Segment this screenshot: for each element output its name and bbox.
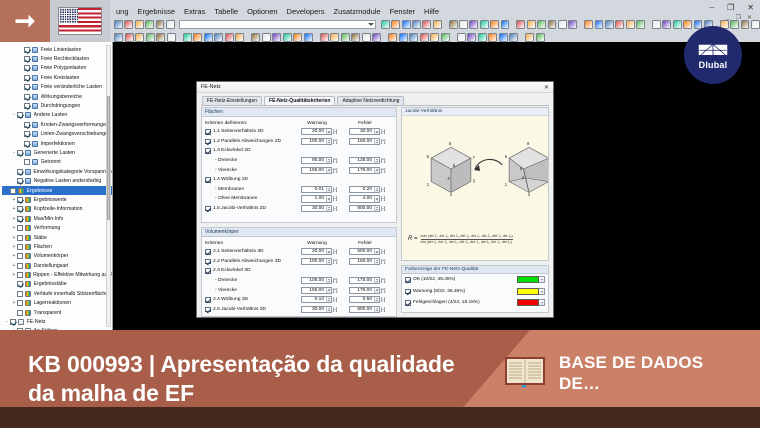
criterion-checkbox[interactable] [205, 206, 211, 212]
menu-item-8[interactable]: Hilfe [424, 7, 439, 18]
solid-6-warning-spinner[interactable]: 30.00 [301, 306, 332, 313]
criterion-label: 2.1 Seitenverhältnis 3D [213, 249, 264, 254]
tree-item-checkbox[interactable] [17, 169, 23, 175]
tree-item-label: Durchdringungen [41, 103, 81, 109]
toolbar-icon-28[interactable] [584, 20, 593, 29]
surface-7-warning-spinner[interactable]: 1.00 [301, 195, 332, 202]
tree-item-checkbox[interactable] [24, 94, 30, 100]
result-icon [25, 263, 31, 269]
toolbar-icon-37[interactable] [673, 20, 682, 29]
toolbar-icon-23[interactable] [537, 20, 546, 29]
toolbar-icon-43[interactable] [730, 20, 739, 29]
toolbar-icon-29[interactable] [399, 33, 408, 42]
toolbar-icon-33[interactable] [441, 33, 450, 42]
toolbar-icon-21[interactable] [516, 20, 525, 29]
toolbar-icon-19[interactable] [501, 20, 510, 29]
tree-item[interactable]: Knoten-Zwangsverformungen [2, 120, 112, 129]
surface-0-warning-value[interactable]: 20.00 [302, 129, 326, 134]
menu-item-5[interactable]: Developers [287, 7, 325, 18]
tree-item-checkbox[interactable] [17, 244, 23, 250]
toolbar-icon-1[interactable] [124, 20, 133, 29]
toolbar-icon-43[interactable] [536, 33, 545, 42]
tree-item-checkbox[interactable] [24, 75, 30, 81]
menu-item-6[interactable]: Zusatzmodule [333, 7, 380, 18]
criterion-checkbox[interactable] [205, 139, 211, 145]
toolbar-icon-18[interactable] [490, 20, 499, 29]
toolbar-icon-17[interactable] [480, 20, 489, 29]
toolbar-icon-44[interactable] [741, 20, 750, 29]
tree-item-checkbox[interactable] [24, 131, 30, 137]
legend-color-dropdown-icon[interactable] [539, 299, 545, 306]
solid-1-warning-spinner[interactable]: 100.00 [301, 258, 332, 265]
surface-1-error-stepper[interactable] [374, 139, 379, 144]
tree-item-checkbox[interactable] [17, 178, 23, 184]
toolbar-row-1[interactable] [108, 18, 760, 31]
solid-3-error-spinner[interactable]: 175.00 [349, 277, 380, 284]
surface-7-error-value[interactable]: 4.00 [350, 196, 374, 201]
toolbar-icon-36[interactable] [467, 33, 476, 42]
toolbar-icon-33[interactable] [636, 20, 645, 29]
surface-1-error-spinner[interactable]: 160.00 [349, 138, 380, 145]
criterion-row[interactable]: 1.3 Eckwinkel 2D [205, 146, 393, 156]
svg-text:2: 2 [528, 192, 531, 196]
surface-4-error-spinner[interactable]: 175.00 [349, 167, 380, 174]
tree-item-checkbox[interactable] [24, 159, 30, 165]
toolbar-icon-5[interactable] [167, 33, 176, 42]
tree-item[interactable]: -Ergebnisse [2, 186, 112, 195]
toolbar-icon-22[interactable] [527, 20, 536, 29]
minimize-icon[interactable]: – [710, 3, 714, 12]
toolbar-icon-4[interactable] [156, 20, 165, 29]
toolbar-icon-29[interactable] [595, 20, 604, 29]
solid-4-warning-value[interactable]: 155.00 [302, 288, 326, 293]
surface-7-warning-stepper[interactable] [326, 196, 331, 201]
project-navigator-tree[interactable]: Freie LinienlastenFreie RechtecklastenFr… [0, 42, 113, 330]
toolbar-icon-30[interactable] [605, 20, 614, 29]
solid-5-error-stepper[interactable] [374, 297, 379, 302]
solid-5-warning-value[interactable]: 0.10 [302, 297, 326, 302]
solid-4-error-spinner[interactable]: 175.00 [349, 287, 380, 294]
solid-0-warning-spinner[interactable]: 20.00 [301, 248, 332, 255]
toolbar-icon-26[interactable] [568, 20, 577, 29]
tree-item[interactable]: Wirkungsbereiche [2, 92, 112, 101]
tree-item-checkbox[interactable] [17, 310, 23, 316]
legend-checkbox[interactable] [405, 277, 411, 283]
toolbar-icon-8[interactable] [391, 20, 400, 29]
toolbar-icon-19[interactable] [304, 33, 313, 42]
legend-checkbox[interactable] [405, 289, 411, 295]
criterion-row[interactable]: 2.2 Parallele Abweichungen 3D100.00[°]16… [205, 257, 393, 267]
surface-4-warning-unit: [°] [333, 168, 341, 173]
surface-6-error-spinner[interactable]: 0.20 [349, 186, 380, 193]
legend-color-dropdown-icon[interactable] [539, 276, 545, 283]
us-flag-icon [58, 7, 102, 35]
legend-checkbox[interactable] [405, 300, 411, 306]
toolbar-icon-2[interactable] [135, 33, 144, 42]
solid-3-error-stepper[interactable] [374, 278, 379, 283]
toolbar-icon-39[interactable] [499, 33, 508, 42]
toolbar-icon-2[interactable] [135, 20, 144, 29]
solid-3-warning-spinner[interactable]: 105.00 [301, 277, 332, 284]
tree-item-checkbox[interactable] [17, 150, 23, 156]
tree-item-checkbox[interactable] [24, 56, 30, 62]
tree-item[interactable]: Negative Lasten andersfarbig [2, 176, 112, 185]
criterion-row[interactable]: - Ohne Membranen1.00[-]4.00[-] [205, 194, 393, 204]
surface-1-warning-cell: 100.00[°] [293, 138, 341, 145]
surface-4-warning-value[interactable]: 155.00 [302, 168, 326, 173]
tree-item[interactable]: Freie Polygonlasten [2, 64, 112, 73]
tree-item[interactable]: Freie Kreislasten [2, 73, 112, 82]
toolbar-icon-25[interactable] [558, 20, 567, 29]
surfaces-group-body: Kriterien definieren: Warnung Fehler 1.1… [202, 117, 396, 215]
toolbar-icon-14[interactable] [251, 33, 260, 42]
tab-fe-mesh-quality-criteria[interactable]: FE-Netz-Qualitätskriterien [264, 96, 335, 105]
solid-5-error-value[interactable]: 0.50 [350, 297, 374, 302]
window-controls[interactable]: – ❐ ✕ [710, 3, 754, 12]
surface-8-error-stepper[interactable] [374, 206, 379, 211]
criterion-row[interactable]: 1.1 Seitenverhältnis 2D20.00[-]30.00[-] [205, 127, 393, 137]
surface-0-error-stepper[interactable] [374, 129, 379, 134]
toolbar-icon-35[interactable] [457, 33, 466, 42]
surface-6-error-stepper[interactable] [374, 187, 379, 192]
toolbar-icon-17[interactable] [283, 33, 292, 42]
tree-item-checkbox[interactable] [17, 300, 23, 306]
legend-color-swatch[interactable] [517, 276, 539, 283]
solid-3-warning-value[interactable]: 105.00 [302, 278, 326, 283]
tree-item-checkbox[interactable] [17, 216, 23, 222]
tree-item[interactable]: +Rippen - Effektive Mitwirkung auf Flä [2, 270, 112, 279]
criterion-checkbox[interactable] [205, 148, 211, 154]
toolbar-icon-8[interactable] [193, 33, 202, 42]
toolbar-icon-1[interactable] [125, 33, 134, 42]
toolbar-address-combo[interactable] [179, 20, 376, 29]
legend-color-swatch[interactable] [517, 288, 539, 295]
tree-item-checkbox[interactable] [10, 319, 16, 325]
toolbar-icon-40[interactable] [509, 33, 518, 42]
toolbar-icon-12[interactable] [235, 33, 244, 42]
tree-item-checkbox[interactable] [17, 291, 23, 297]
toolbar-icon-16[interactable] [272, 33, 281, 42]
surface-1-warning-stepper[interactable] [326, 139, 331, 144]
close-icon[interactable]: ✕ [747, 3, 754, 12]
toolbar-icon-11[interactable] [422, 20, 431, 29]
tree-item-checkbox[interactable] [17, 281, 23, 287]
surface-4-error-stepper[interactable] [374, 168, 379, 173]
toolbar-icon-10[interactable] [214, 33, 223, 42]
load-icon [32, 65, 38, 71]
dialog-close-icon[interactable]: ✕ [544, 84, 549, 91]
surface-8-warning-value[interactable]: 30.00 [302, 206, 326, 211]
toolbar-icon-11[interactable] [225, 33, 234, 42]
tree-item-checkbox[interactable] [17, 235, 23, 241]
criterion-checkbox[interactable] [205, 249, 211, 255]
toolbar-icon-24[interactable] [548, 20, 557, 29]
criterion-row[interactable]: 2.3 Eckwinkel 3D [205, 266, 393, 276]
tree-item[interactable]: Freie Rechtecklasten [2, 54, 112, 63]
tab-fe-mesh-settings[interactable]: FE-Netz-Einstellungen [202, 96, 262, 105]
toolbar-icon-7[interactable] [381, 20, 390, 29]
criterion-row[interactable]: - Vierecke155.00[°]175.00[°] [205, 165, 393, 175]
surface-7-warning-value[interactable]: 1.00 [302, 196, 326, 201]
legend-row[interactable]: Fehlgeschlagen (4/22, 18.18%) [402, 297, 548, 309]
tree-item-checkbox[interactable] [24, 141, 30, 147]
surface-6-warning-value[interactable]: 0.01 [302, 187, 326, 192]
load-icon [32, 84, 38, 90]
criterion-row[interactable]: - Dreiecke105.00[°]175.00[°] [205, 276, 393, 286]
solid-5-error-cell: 0.50[-] [341, 296, 389, 303]
solids-col-warning: Warnung [293, 241, 341, 246]
tree-item[interactable]: Linien-Zwangsverschiebungen [2, 130, 112, 139]
solid-5-error-spinner[interactable]: 0.50 [349, 296, 380, 303]
toolbar-icon-32[interactable] [430, 33, 439, 42]
surface-0-warning-stepper[interactable] [326, 129, 331, 134]
surface-4-error-value[interactable]: 175.00 [350, 168, 374, 173]
tree-item[interactable]: -FE-Netz [2, 317, 112, 326]
tree-item[interactable]: Transparent [2, 308, 112, 317]
tree-item-checkbox[interactable] [17, 225, 23, 231]
criterion-label-wrap: - Ohne Membranen [205, 196, 293, 201]
solid-0-warning-value[interactable]: 20.00 [302, 249, 326, 254]
criterion-checkbox[interactable] [205, 268, 211, 274]
solid-4-error-stepper[interactable] [374, 288, 379, 293]
tree-item[interactable]: +Max/Min-Info [2, 214, 112, 223]
surface-8-error-value[interactable]: 800.00 [350, 206, 374, 211]
toolbar-icon-30[interactable] [409, 33, 418, 42]
surface-4-warning-spinner[interactable]: 155.00 [301, 167, 332, 174]
tab-adaptive-mesh-refinement[interactable]: Adaptive Netzverdichtung [337, 96, 404, 105]
surface-8-warning-stepper[interactable] [326, 206, 331, 211]
menu-item-1[interactable]: Ergebnisse [138, 7, 176, 18]
solid-6-error-value[interactable]: 800.00 [350, 307, 374, 312]
toolbar-icon-22[interactable] [330, 33, 339, 42]
solid-4-error-value[interactable]: 175.00 [350, 288, 374, 293]
legend-color-dropdown-icon[interactable] [539, 288, 545, 295]
menu-item-7[interactable]: Fenster [390, 7, 415, 18]
toolbar-icon-38[interactable] [488, 33, 497, 42]
toolbar-icon-21[interactable] [320, 33, 329, 42]
tree-item[interactable]: Freie veränderliche Lasten [2, 83, 112, 92]
toolbar-icon-23[interactable] [341, 33, 350, 42]
surface-3-error-stepper[interactable] [374, 158, 379, 163]
criterion-row[interactable]: - Dreiecke95.00[°]135.00[°] [205, 156, 393, 166]
solid-1-warning-value[interactable]: 100.00 [302, 259, 326, 264]
toolbar-row-1-icons[interactable] [108, 18, 760, 31]
criterion-checkbox[interactable] [205, 129, 211, 135]
legend-color-swatch[interactable] [517, 299, 539, 306]
criterion-row[interactable]: 1.2 Parallele Abweichungen 2D100.00[°]16… [205, 137, 393, 147]
fe-mesh-dialog[interactable]: FE-Netz ✕ FE-Netz-Einstellungen FE-Netz-… [196, 81, 554, 318]
solid-0-error-spinner[interactable]: 500.00 [349, 248, 380, 255]
toolbar-icon-24[interactable] [351, 33, 360, 42]
menu-item-4[interactable]: Optionen [247, 7, 277, 18]
criterion-checkbox[interactable] [205, 177, 211, 183]
surface-7-error-stepper[interactable] [374, 196, 379, 201]
criterion-row[interactable]: 2.4 Wölbung 3D0.10[-]0.50[-] [205, 295, 393, 305]
surface-1-warning-spinner[interactable]: 100.00 [301, 138, 332, 145]
surface-8-error-spinner[interactable]: 800.00 [349, 205, 380, 212]
solid-6-error-stepper[interactable] [374, 307, 379, 312]
surfaces-col-criteria: Kriterien definieren: [205, 121, 293, 126]
solid-1-error-stepper[interactable] [374, 259, 379, 264]
solid-0-error-cell: 500.00[-] [341, 248, 389, 255]
menu-item-3[interactable]: Tabelle [214, 7, 238, 18]
toolbar-icon-37[interactable] [478, 33, 487, 42]
tree-item[interactable]: +Kopfzeile-Information [2, 205, 112, 214]
solid-0-error-value[interactable]: 500.00 [350, 249, 374, 254]
surface-3-error-value[interactable]: 135.00 [350, 158, 374, 163]
tree-item-checkbox[interactable] [24, 65, 30, 71]
surface-0-error-spinner[interactable]: 30.00 [349, 128, 380, 135]
criterion-row[interactable]: - Vierecke155.00[°]175.00[°] [205, 285, 393, 295]
solid-5-warning-spinner[interactable]: 0.10 [301, 296, 332, 303]
tree-item-checkbox[interactable] [24, 122, 30, 128]
surface-1-warning-value[interactable]: 100.00 [302, 139, 326, 144]
surface-6-error-cell: 0.20[-] [341, 186, 389, 193]
toolbar-icon-15[interactable] [459, 20, 468, 29]
tree-item-checkbox[interactable] [17, 263, 23, 269]
tree-item-checkbox[interactable] [24, 103, 30, 109]
tree-item[interactable]: -Andere Lasten [2, 111, 112, 120]
toolbar-icon-32[interactable] [626, 20, 635, 29]
toolbar-icon-16[interactable] [469, 20, 478, 29]
criterion-row[interactable]: - Membranen0.01[-]0.20[-] [205, 185, 393, 195]
toolbar-icon-0[interactable] [114, 33, 123, 42]
solid-5-warning-stepper[interactable] [326, 297, 331, 302]
criterion-checkbox[interactable] [205, 259, 211, 265]
toolbar-icon-14[interactable] [449, 20, 458, 29]
toolbar-icon-4[interactable] [156, 33, 165, 42]
tree-item[interactable]: Imperfektionen [2, 139, 112, 148]
tree-item[interactable]: +Stäbe [2, 233, 112, 242]
solid-6-error-spinner[interactable]: 800.00 [349, 306, 380, 313]
surface-6-error-value[interactable]: 0.20 [350, 187, 374, 192]
tree-item[interactable]: +Darstellungsart [2, 261, 112, 270]
surface-6-warning-spinner[interactable]: 0.01 [301, 186, 332, 193]
tree-item[interactable]: +Lagerreaktionen [2, 299, 112, 308]
criterion-row[interactable]: 1.5 Jacobi-Verhältnis 2D30.00[-]800.00[-… [205, 204, 393, 214]
solid-6-warning-stepper[interactable] [326, 307, 331, 312]
tree-item[interactable]: +Verformung [2, 223, 112, 232]
solid-0-error-stepper[interactable] [374, 249, 379, 254]
tree-item-checkbox[interactable] [17, 112, 23, 118]
toolbar-icon-12[interactable] [433, 20, 442, 29]
tree-item-checkbox[interactable] [17, 206, 23, 212]
criterion-row[interactable]: 2.1 Seitenverhältnis 3D20.00[-]500.00[-] [205, 247, 393, 257]
solid-0-warning-stepper[interactable] [326, 249, 331, 254]
toolbar-icon-9[interactable] [402, 20, 411, 29]
toolbar-icon-42[interactable] [525, 33, 534, 42]
tree-item-checkbox[interactable] [24, 84, 30, 90]
surface-8-warning-spinner[interactable]: 30.00 [301, 205, 332, 212]
toolbar-icon-25[interactable] [362, 33, 371, 42]
surface-6-warning-stepper[interactable] [326, 187, 331, 192]
surface-3-warning-spinner[interactable]: 95.00 [301, 157, 332, 164]
legend-row[interactable]: OK (10/22, 45.45%) [402, 274, 548, 286]
tree-item-checkbox[interactable] [17, 253, 23, 259]
surface-0-error-value[interactable]: 30.00 [350, 129, 374, 134]
surface-3-warning-value[interactable]: 95.00 [302, 158, 326, 163]
toolbar-icon-28[interactable] [388, 33, 397, 42]
solid-4-warning-spinner[interactable]: 155.00 [301, 287, 332, 294]
surface-6-warning-unit: [-] [333, 187, 341, 192]
toolbar-icon-10[interactable] [412, 20, 421, 29]
dialog-tabs[interactable]: FE-Netz-Einstellungen FE-Netz-Qualitätsk… [197, 93, 553, 105]
toolbar-icon-31[interactable] [420, 33, 429, 42]
toolbar-icon-7[interactable] [183, 33, 192, 42]
tree-item[interactable]: +Ergebniswerte [2, 195, 112, 204]
surface-4-warning-stepper[interactable] [326, 168, 331, 173]
svg-text:8: 8 [449, 142, 452, 146]
surface-7-error-spinner[interactable]: 4.00 [349, 195, 380, 202]
solid-6-warning-value[interactable]: 30.00 [302, 307, 326, 312]
toolbar-icon-9[interactable] [204, 33, 213, 42]
surface-3-error-spinner[interactable]: 135.00 [349, 157, 380, 164]
toolbar-icon-3[interactable] [145, 20, 154, 29]
solid-3-error-value[interactable]: 175.00 [350, 278, 374, 283]
result-icon [25, 244, 31, 250]
criterion-row[interactable]: 2.5 Jacobi-Verhältnis 3D30.00[-]800.00[-… [205, 305, 393, 315]
solid-1-warning-stepper[interactable] [326, 259, 331, 264]
tree-item[interactable]: Einwirkungskategorie Vorspannung [2, 167, 112, 176]
criterion-row[interactable]: 1.4 Wölbung 2D [205, 175, 393, 185]
toolbar-icon-38[interactable] [683, 20, 692, 29]
toolbar-icon-15[interactable] [262, 33, 271, 42]
tree-vertical-scrollbar[interactable] [106, 45, 111, 327]
tree-item-label: Freie Kreislasten [41, 75, 80, 81]
svg-text:5: 5 [427, 154, 430, 159]
solid-4-warning-stepper[interactable] [326, 288, 331, 293]
tree-item[interactable]: Durchdringungen [2, 101, 112, 110]
menu-item-0[interactable]: ung [116, 7, 129, 18]
tree-item-checkbox[interactable] [17, 272, 23, 278]
toolbar-icon-0[interactable] [114, 20, 123, 29]
menu-item-2[interactable]: Extras [184, 7, 205, 18]
solid-1-error-value[interactable]: 160.00 [350, 259, 374, 264]
tree-item[interactable]: Ergebnisstäbe [2, 280, 112, 289]
solid-0-warning-cell: 20.00[-] [293, 248, 341, 255]
tree-item-checkbox[interactable] [10, 188, 16, 194]
tree-item[interactable]: Getrennt [2, 158, 112, 167]
toolbar-icon-35[interactable] [652, 20, 661, 29]
criterion-label-wrap: - Membranen [205, 187, 293, 192]
legend-row[interactable]: Warnung (8/22, 36.36%) [402, 286, 548, 298]
solid-1-error-spinner[interactable]: 160.00 [349, 258, 380, 265]
tree-item-checkbox[interactable] [24, 47, 30, 53]
criterion-checkbox[interactable] [205, 307, 211, 313]
tree-item[interactable]: +Volumenkörper [2, 252, 112, 261]
tree-item-checkbox[interactable] [17, 197, 23, 203]
toolbar-icon-3[interactable] [146, 33, 155, 42]
tree-item[interactable]: -Generierte Lasten [2, 148, 112, 157]
toolbar-icon-18[interactable] [293, 33, 302, 42]
legend-label-wrap: Warnung (8/22, 36.36%) [405, 289, 517, 295]
menu-bar[interactable]: ung Ergebnisse Extras Tabelle Optionen D… [108, 7, 439, 18]
surface-3-warning-stepper[interactable] [326, 158, 331, 163]
toolbar-icon-26[interactable] [372, 33, 381, 42]
toolbar-icon-36[interactable] [662, 20, 671, 29]
criterion-checkbox[interactable] [205, 297, 211, 303]
tree-item[interactable]: Verläufe innerhalb Stützenfläche [2, 289, 112, 298]
tree-item[interactable]: +Flächen [2, 242, 112, 251]
surface-1-error-value[interactable]: 160.00 [350, 139, 374, 144]
toolbar-icon-45[interactable] [751, 20, 760, 29]
solid-3-warning-stepper[interactable] [326, 278, 331, 283]
maximize-icon[interactable]: ❐ [727, 3, 734, 12]
tree-item[interactable]: Freie Linienlasten [2, 45, 112, 54]
surface-0-warning-spinner[interactable]: 20.00 [301, 128, 332, 135]
toolbar-icon-5[interactable] [166, 20, 175, 29]
toolbar-icon-31[interactable] [615, 20, 624, 29]
